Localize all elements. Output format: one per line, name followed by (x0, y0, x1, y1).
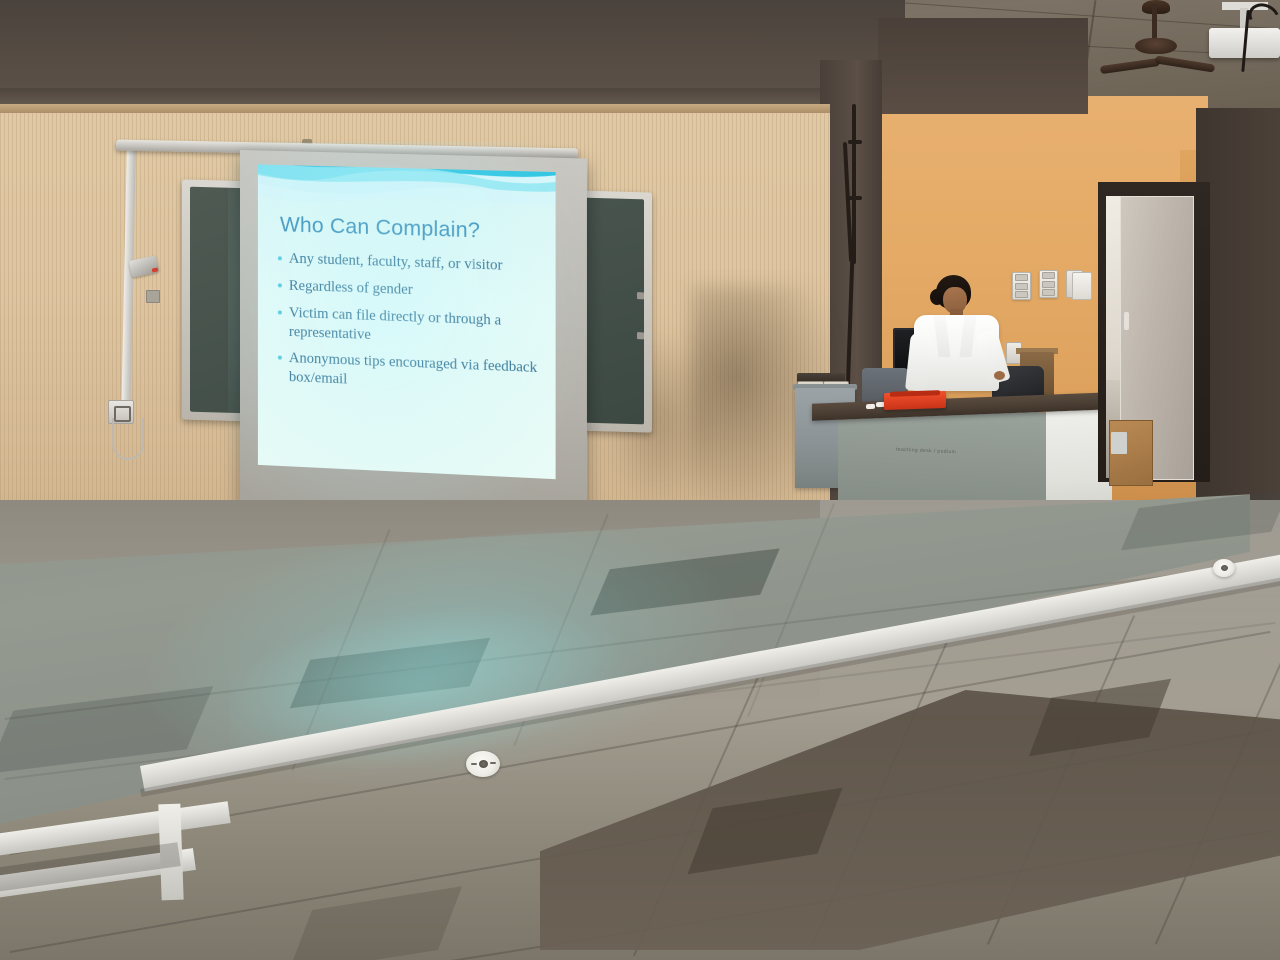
chalkboard-clip (637, 292, 644, 299)
structural-beam-horizontal (878, 18, 1088, 114)
floor-outlet-core-icon (1221, 565, 1228, 571)
wall-cable (852, 104, 856, 264)
hanging-cord (112, 418, 144, 460)
box-label (1111, 432, 1127, 454)
floor-outlet-slot-icon (471, 763, 477, 765)
slide-bullet-list: Any student, faculty, staff, or visitor … (276, 249, 545, 406)
cable-clip (848, 140, 862, 144)
floor-outlet-slot-icon (490, 762, 496, 764)
fan-downrod (1152, 4, 1157, 42)
switch-key[interactable] (1042, 272, 1055, 279)
fan-motor-hub (1135, 38, 1177, 54)
door-handle[interactable] (1124, 312, 1129, 330)
slide-bullet-item: Anonymous tips encouraged via feedback b… (276, 349, 545, 398)
slide-title: Who Can Complain? (280, 213, 480, 243)
cable-clip (848, 196, 862, 200)
lecture-hall-scene: g C S Who Can Complain? Any s (0, 0, 1280, 960)
light-switch-plate[interactable] (1039, 270, 1058, 298)
slide-wave-decoration (258, 164, 556, 218)
screen-surface: Who Can Complain? Any student, faculty, … (258, 164, 556, 479)
hand (994, 371, 1005, 380)
presenter-person (900, 275, 1030, 410)
wall-trim (0, 104, 830, 113)
floor-outlet-core-icon (479, 760, 488, 768)
presentation-slide: Who Can Complain? Any student, faculty, … (258, 164, 556, 479)
chalkboard-clip (637, 332, 644, 339)
wall-notice-plate (1072, 272, 1092, 300)
wall-small-plate (146, 290, 160, 303)
slide-bullet-item: Victim can file directly or through a re… (276, 303, 545, 351)
switch-key[interactable] (1042, 281, 1055, 288)
slide-bullet-item: Regardless of gender (276, 276, 545, 304)
switch-key[interactable] (1042, 289, 1055, 296)
slide-bullet-item: Any student, faculty, staff, or visitor (276, 249, 545, 277)
chalk-stick (866, 404, 875, 409)
